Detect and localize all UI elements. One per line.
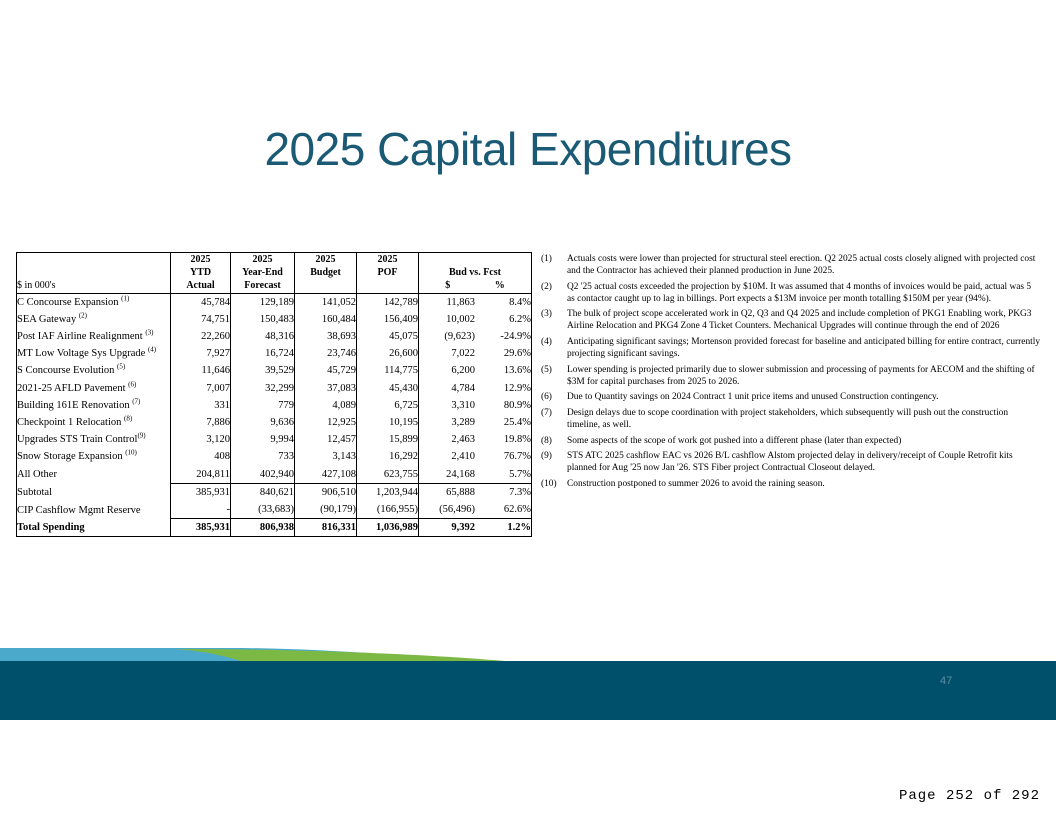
cell-forecast: 48,316 (231, 328, 295, 345)
cell-var-percent: 76.7% (475, 448, 532, 465)
cell-pof: 6,725 (357, 397, 419, 414)
cell-forecast: 733 (231, 448, 295, 465)
header-group-bud-vs-fcst: Bud vs. Fcst $ % (419, 253, 532, 294)
header-col-var-dollar: $ (445, 279, 450, 292)
cell-ytd: 7,927 (171, 345, 231, 362)
cell-pof: 26,600 (357, 345, 419, 362)
table-row-total: Total Spending 385,931 806,938 816,331 1… (17, 519, 532, 537)
cell-var-dollar: 2,463 (419, 431, 476, 448)
cell-pof: 45,430 (357, 380, 419, 397)
cell-ytd: 3,120 (171, 431, 231, 448)
cell-ytd: 204,811 (171, 466, 231, 484)
table-row: All Other 204,811 402,940 427,108 623,75… (17, 466, 532, 484)
cell-forecast: 150,483 (231, 311, 295, 328)
cell-budget: 45,729 (295, 362, 357, 379)
footnote-text: Lower spending is projected primarily du… (567, 364, 1041, 388)
band-svg (0, 620, 1056, 720)
cell-pof: 15,899 (357, 431, 419, 448)
footnote-number: (6) (541, 391, 567, 403)
row-label: Checkpoint 1 Relocation (8) (17, 414, 171, 431)
footnote-number: (3) (541, 308, 567, 320)
page-title: 2025 Capital Expenditures (0, 126, 1056, 172)
cell-var-dollar: 7,022 (419, 345, 476, 362)
cell-budget: 816,331 (295, 519, 357, 537)
table-body: C Concourse Expansion (1) 45,784 129,189… (17, 293, 532, 537)
footnote-ref: (8) (124, 415, 132, 423)
cell-var-dollar: 24,168 (419, 466, 476, 484)
footnote-item: (3) The bulk of project scope accelerate… (541, 308, 1041, 332)
header-col-budget: 2025 Budget (295, 253, 357, 294)
cell-ytd: 45,784 (171, 293, 231, 311)
row-label: Snow Storage Expansion (10) (17, 448, 171, 465)
table-row: Post IAF Airline Realignment (3) 22,260 … (17, 328, 532, 345)
table-row: 2021-25 AFLD Pavement (6) 7,007 32,299 3… (17, 380, 532, 397)
cell-budget: 160,484 (295, 311, 357, 328)
cell-budget: 3,143 (295, 448, 357, 465)
cell-budget: 37,083 (295, 380, 357, 397)
cell-forecast: 806,938 (231, 519, 295, 537)
cell-var-percent: 12.9% (475, 380, 532, 397)
row-label: MT Low Voltage Sys Upgrade (4) (17, 345, 171, 362)
row-label: 2021-25 AFLD Pavement (6) (17, 380, 171, 397)
footnote-number: (10) (541, 478, 567, 490)
footnote-item: (10) Construction postponed to summer 20… (541, 478, 1041, 490)
row-label: Upgrades STS Train Control(9) (17, 431, 171, 448)
cell-forecast: 39,529 (231, 362, 295, 379)
footnote-ref: (7) (132, 397, 140, 405)
cell-var-percent: 80.9% (475, 397, 532, 414)
footnote-ref: (4) (148, 346, 156, 354)
footnote-ref: (6) (128, 380, 136, 388)
header-col-forecast: 2025 Year-End Forecast (231, 253, 295, 294)
cell-var-percent: 8.4% (475, 293, 532, 311)
cell-forecast: 9,994 (231, 431, 295, 448)
cell-pof: 1,203,944 (357, 483, 419, 501)
table-row-subtotal: Subtotal 385,931 840,621 906,510 1,203,9… (17, 483, 532, 501)
cell-ytd: - (171, 501, 231, 519)
cell-var-dollar: 2,410 (419, 448, 476, 465)
row-label: All Other (17, 466, 171, 484)
footnote-number: (7) (541, 407, 567, 419)
footnote-item: (4) Anticipating significant savings; Mo… (541, 336, 1041, 360)
cell-budget: 906,510 (295, 483, 357, 501)
cell-var-dollar: 10,002 (419, 311, 476, 328)
cell-budget: (90,179) (295, 501, 357, 519)
cell-var-dollar: 4,784 (419, 380, 476, 397)
cell-ytd: 331 (171, 397, 231, 414)
row-label: Total Spending (17, 519, 171, 537)
cell-ytd: 385,931 (171, 483, 231, 501)
cell-var-dollar: (9,623) (419, 328, 476, 345)
row-label: S Concourse Evolution (5) (17, 362, 171, 379)
table-row: Checkpoint 1 Relocation (8) 7,886 9,636 … (17, 414, 532, 431)
row-label: Post IAF Airline Realignment (3) (17, 328, 171, 345)
cell-var-dollar: 3,310 (419, 397, 476, 414)
row-label: SEA Gateway (2) (17, 311, 171, 328)
cell-var-percent: 25.4% (475, 414, 532, 431)
footnotes-list: (1) Actuals costs were lower than projec… (541, 253, 1041, 494)
cell-ytd: 385,931 (171, 519, 231, 537)
cell-budget: 23,746 (295, 345, 357, 362)
pdf-page-footer: Page 252 of 292 (0, 788, 1040, 804)
footnote-ref: (3) (145, 329, 153, 337)
table-header: $ in 000's 2025 YTD Actual 2025 Year-End… (17, 253, 532, 294)
footnote-ref: (1) (121, 294, 129, 302)
row-label: C Concourse Expansion (1) (17, 293, 171, 311)
cell-var-percent: 5.7% (475, 466, 532, 484)
cell-var-percent: 62.6% (475, 501, 532, 519)
footnote-item: (1) Actuals costs were lower than projec… (541, 253, 1041, 277)
footnote-text: Actuals costs were lower than projected … (567, 253, 1041, 277)
cell-var-percent: 19.8% (475, 431, 532, 448)
footnote-number: (2) (541, 281, 567, 293)
header-unit-label: $ in 000's (17, 253, 171, 294)
footnote-ref: (10) (125, 449, 137, 457)
cell-var-percent: -24.9% (475, 328, 532, 345)
cell-ytd: 11,646 (171, 362, 231, 379)
cell-forecast: 779 (231, 397, 295, 414)
cell-ytd: 74,751 (171, 311, 231, 328)
cell-var-percent: 7.3% (475, 483, 532, 501)
cell-budget: 427,108 (295, 466, 357, 484)
footnote-text: Construction postponed to summer 2026 to… (567, 478, 1041, 490)
cell-var-percent: 1.2% (475, 519, 532, 537)
footnote-text: Anticipating significant savings; Morten… (567, 336, 1041, 360)
row-label: Subtotal (17, 483, 171, 501)
cell-forecast: 129,189 (231, 293, 295, 311)
footnote-item: (6) Due to Quantity savings on 2024 Cont… (541, 391, 1041, 403)
footnote-number: (4) (541, 336, 567, 348)
footnote-item: (5) Lower spending is projected primaril… (541, 364, 1041, 388)
row-label: Building 161E Renovation (7) (17, 397, 171, 414)
footnote-text: The bulk of project scope accelerated wo… (567, 308, 1041, 332)
footnote-item: (7) Design delays due to scope coordinat… (541, 407, 1041, 431)
cell-budget: 141,052 (295, 293, 357, 311)
cell-forecast: (33,683) (231, 501, 295, 519)
cell-var-percent: 29.6% (475, 345, 532, 362)
decorative-band (0, 620, 1056, 720)
cell-ytd: 408 (171, 448, 231, 465)
cell-var-percent: 6.2% (475, 311, 532, 328)
cell-budget: 12,925 (295, 414, 357, 431)
table: $ in 000's 2025 YTD Actual 2025 Year-End… (16, 252, 532, 537)
cell-var-dollar: 9,392 (419, 519, 476, 537)
footnote-text: Due to Quantity savings on 2024 Contract… (567, 391, 1041, 403)
cell-forecast: 402,940 (231, 466, 295, 484)
footnote-text: Q2 '25 actual costs exceeded the project… (567, 281, 1041, 305)
table-row: Snow Storage Expansion (10) 408 733 3,14… (17, 448, 532, 465)
table-row: Upgrades STS Train Control(9) 3,120 9,99… (17, 431, 532, 448)
table-row: MT Low Voltage Sys Upgrade (4) 7,927 16,… (17, 345, 532, 362)
cell-pof: 156,409 (357, 311, 419, 328)
cell-pof: 1,036,989 (357, 519, 419, 537)
cell-pof: 10,195 (357, 414, 419, 431)
cell-forecast: 840,621 (231, 483, 295, 501)
cell-ytd: 7,886 (171, 414, 231, 431)
header-col-var-percent: % (495, 279, 505, 292)
cell-var-dollar: (56,496) (419, 501, 476, 519)
header-row: $ in 000's 2025 YTD Actual 2025 Year-End… (17, 253, 532, 294)
header-col-ytd: 2025 YTD Actual (171, 253, 231, 294)
footnote-text: Design delays due to scope coordination … (567, 407, 1041, 431)
cell-var-dollar: 11,863 (419, 293, 476, 311)
table-row: Building 161E Renovation (7) 331 779 4,0… (17, 397, 532, 414)
cell-forecast: 32,299 (231, 380, 295, 397)
cell-pof: (166,955) (357, 501, 419, 519)
footnote-ref: (5) (117, 363, 125, 371)
table-row: S Concourse Evolution (5) 11,646 39,529 … (17, 362, 532, 379)
cell-var-percent: 13.6% (475, 362, 532, 379)
cell-ytd: 22,260 (171, 328, 231, 345)
table-row: SEA Gateway (2) 74,751 150,483 160,484 1… (17, 311, 532, 328)
footnote-text: Some aspects of the scope of work got pu… (567, 435, 1041, 447)
footnote-number: (9) (541, 450, 567, 462)
cell-var-dollar: 65,888 (419, 483, 476, 501)
footnote-ref: (9) (137, 432, 145, 440)
cell-pof: 114,775 (357, 362, 419, 379)
footnote-item: (9) STS ATC 2025 cashflow EAC vs 2026 B/… (541, 450, 1041, 474)
footnote-number: (5) (541, 364, 567, 376)
cell-budget: 12,457 (295, 431, 357, 448)
cell-forecast: 9,636 (231, 414, 295, 431)
table-row: C Concourse Expansion (1) 45,784 129,189… (17, 293, 532, 311)
footnote-number: (8) (541, 435, 567, 447)
cell-var-dollar: 6,200 (419, 362, 476, 379)
band-teal-shape (0, 661, 1056, 720)
cell-pof: 16,292 (357, 448, 419, 465)
footnote-text: STS ATC 2025 cashflow EAC vs 2026 B/L ca… (567, 450, 1041, 474)
cell-var-dollar: 3,289 (419, 414, 476, 431)
header-col-pof: 2025 POF (357, 253, 419, 294)
row-label: CIP Cashflow Mgmt Reserve (17, 501, 171, 519)
unit-label-text: $ in 000's (17, 279, 170, 292)
table-row-reserve: CIP Cashflow Mgmt Reserve - (33,683) (90… (17, 501, 532, 519)
cell-pof: 142,789 (357, 293, 419, 311)
footnote-item: (8) Some aspects of the scope of work go… (541, 435, 1041, 447)
cell-budget: 4,089 (295, 397, 357, 414)
footnote-number: (1) (541, 253, 567, 265)
cell-pof: 623,755 (357, 466, 419, 484)
footnote-item: (2) Q2 '25 actual costs exceeded the pro… (541, 281, 1041, 305)
footnote-ref: (2) (79, 311, 87, 319)
cell-pof: 45,075 (357, 328, 419, 345)
capital-expenditures-table: $ in 000's 2025 YTD Actual 2025 Year-End… (16, 252, 532, 537)
cell-ytd: 7,007 (171, 380, 231, 397)
slide-page-number: 47 (940, 675, 952, 687)
cell-budget: 38,693 (295, 328, 357, 345)
cell-forecast: 16,724 (231, 345, 295, 362)
